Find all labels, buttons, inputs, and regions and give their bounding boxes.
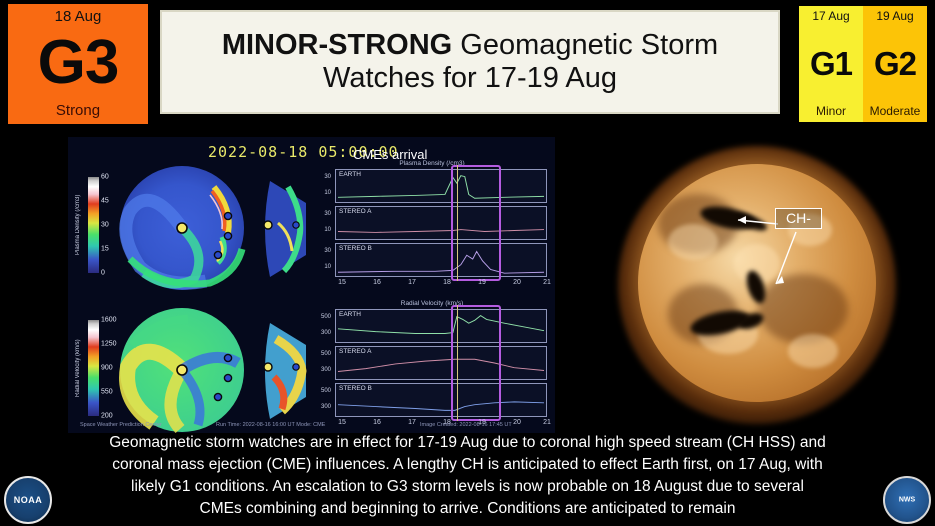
timeseries-panel-stereo-b: STEREO B (335, 383, 547, 417)
panel-label: STEREO A (339, 208, 372, 215)
nws-logo-text: NWS (899, 497, 915, 504)
y-tick: 500 (313, 314, 331, 320)
badge-level: G3 (38, 35, 119, 91)
x-tick: 16 (373, 279, 381, 286)
y-tick: 500 (313, 351, 331, 357)
y-tick: 10 (313, 190, 331, 196)
colorbar-gradient (88, 320, 99, 416)
cme-window-highlight (451, 165, 501, 281)
storm-badge-g2: 19 Aug G2 Moderate (863, 6, 927, 122)
x-tick: 18 (443, 279, 451, 286)
timeseries-panel-stereo-a: STEREO A (335, 346, 547, 380)
panel-label: STEREO A (339, 348, 372, 355)
x-tick: 21 (543, 279, 551, 286)
badge-date: 17 Aug (812, 10, 849, 22)
panel-label: STEREO B (339, 245, 372, 252)
y-tick: 300 (313, 404, 331, 410)
timeseries-title: Plasma Density (/cm3) (313, 160, 551, 167)
colorbar-plasma-density: Plasma Density (/cm3) 60 45 30 15 0 (74, 177, 86, 273)
badge-level: G2 (874, 49, 916, 79)
colorbar-tick: 30 (101, 222, 109, 229)
noaa-logo: NOAA (4, 476, 52, 524)
model-footer: Space Weather Prediction Center Run Time… (68, 422, 555, 432)
x-tick: 17 (408, 279, 416, 286)
timeseries-panel-earth: EARTH (335, 169, 547, 203)
caption-line: likely G1 conditions. An escalation to G… (0, 476, 935, 498)
badge-scale: Moderate (870, 105, 921, 117)
panel-label: STEREO B (339, 385, 372, 392)
y-tick: 10 (313, 264, 331, 270)
colorbar-title: Radial Velocity (km/s) (72, 320, 84, 416)
panel-label: EARTH (339, 171, 361, 178)
nws-logo: NWS (883, 476, 931, 524)
timeseries-title: Radial Velocity (km/s) (313, 300, 551, 307)
title-line-1: MINOR-STRONG Geomagnetic Storm (222, 29, 718, 62)
badge-level: G1 (810, 49, 852, 79)
colorbar-tick: 45 (101, 198, 109, 205)
x-tick: 20 (513, 279, 521, 286)
caption-block: Geomagnetic storm watches are in effect … (0, 432, 935, 520)
caption-line: CMEs combining and beginning to arrive. … (0, 498, 935, 520)
page-title: MINOR-STRONG Geomagnetic Storm Watches f… (160, 10, 780, 114)
cme-arrival-line (457, 165, 458, 281)
storm-badge-g1: 17 Aug G1 Minor (799, 6, 863, 122)
timeseries-panel-stereo-b: STEREO B (335, 243, 547, 277)
badge-date: 18 Aug (55, 9, 102, 24)
colorbar-radial-velocity: Radial Velocity (km/s) 1600 1250 900 550… (74, 320, 86, 416)
badge-date: 19 Aug (876, 10, 913, 22)
y-tick: 10 (313, 227, 331, 233)
enlil-model-panel: 2022-08-18 05:00:00 Plasma Density (/cm3… (68, 137, 555, 433)
title-rest: Geomagnetic Storm (452, 29, 718, 61)
ecliptic-density-plot (110, 163, 310, 293)
ecliptic-velocity-plot (110, 305, 310, 433)
badge-scale: Strong (56, 103, 100, 118)
timeseries-radial-velocity: Radial Velocity (km/s) EARTH 500 300 STE… (313, 309, 551, 419)
panel-label: EARTH (339, 311, 361, 318)
colorbar-tick: 0 (101, 270, 105, 277)
ch-annotation-arrows (600, 132, 935, 434)
badge-scale: Minor (816, 105, 846, 117)
caption-line: Geomagnetic storm watches are in effect … (0, 432, 935, 454)
timeseries-panel-earth: EARTH (335, 309, 547, 343)
colorbar-title: Plasma Density (/cm3) (72, 177, 84, 273)
title-line-2: Watches for 17-19 Aug (323, 62, 617, 95)
colorbar-tick: 60 (101, 174, 109, 181)
y-tick: 300 (313, 367, 331, 373)
infographic-root: 18 Aug G3 Strong MINOR-STRONG Geomagneti… (0, 0, 935, 526)
footer-run-time: Run Time: 2022-08-16 16:00 UT Mode: CME (216, 422, 325, 428)
solar-image-panel: CH- (600, 132, 935, 434)
y-tick: 500 (313, 388, 331, 394)
panel-trace (336, 170, 546, 202)
y-tick: 30 (313, 248, 331, 254)
storm-badge-g3: 18 Aug G3 Strong (8, 4, 148, 124)
storm-badge-group: 17 Aug G1 Minor 19 Aug G2 Moderate (799, 6, 927, 122)
x-tick: 15 (338, 279, 346, 286)
caption-line: coronal mass ejection (CME) influences. … (0, 454, 935, 476)
y-tick: 30 (313, 174, 331, 180)
x-tick: 19 (478, 279, 486, 286)
colorbar-tick: 15 (101, 246, 109, 253)
noaa-logo-text: NOAA (14, 495, 43, 505)
cme-window-highlight (451, 305, 501, 421)
title-strong: MINOR-STRONG (222, 29, 452, 61)
cme-arrival-line (457, 305, 458, 421)
y-tick: 30 (313, 211, 331, 217)
y-tick: 300 (313, 330, 331, 336)
timeseries-panel-stereo-a: STEREO A (335, 206, 547, 240)
footer-center: Space Weather Prediction Center (80, 422, 162, 428)
ch-label-box: CH- (775, 208, 822, 229)
timeseries-plasma-density: Plasma Density (/cm3) EARTH 30 10 STEREO… (313, 169, 551, 279)
footer-image-created: Image Created: 2022-08-16 17:45 UT (420, 422, 512, 428)
colorbar-gradient (88, 177, 99, 273)
panel-trace (336, 310, 546, 342)
